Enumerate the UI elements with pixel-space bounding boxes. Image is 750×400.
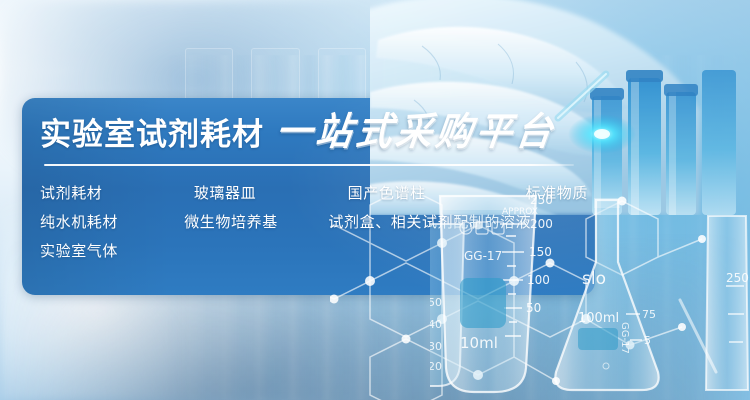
category-item-microbial-culture-medium[interactable]: 微生物培养基 [184, 211, 328, 232]
headline: 实验室试剂耗材 一站式采购平台 [40, 114, 556, 150]
category-item-reagent-kits-and-solutions[interactable]: 试剂盒、相关试剂配制的溶液 [328, 211, 588, 232]
category-row-2: 纯水机耗材 微生物培养基 试剂盒、相关试剂配制的溶液 [40, 207, 588, 236]
headline-underline [44, 164, 574, 166]
category-row-3: 实验室气体 [40, 236, 588, 265]
category-row-1: 试剂耗材 玻璃器皿 国产色谱柱 标准物质 [40, 178, 588, 207]
promo-banner: 50 40 30 20 200 150 100 50 [0, 0, 750, 400]
category-item-water-purifier-consumables[interactable]: 纯水机耗材 [40, 211, 184, 232]
category-item-reference-material[interactable]: 标准物质 [482, 182, 588, 203]
category-list: 试剂耗材 玻璃器皿 国产色谱柱 标准物质 纯水机耗材 微生物培养基 试剂盒、相关… [40, 178, 588, 265]
category-item-domestic-chromatography-column[interactable]: 国产色谱柱 [348, 182, 483, 203]
headline-main-text: 实验室试剂耗材 [40, 119, 264, 150]
category-item-reagent-consumables[interactable]: 试剂耗材 [40, 182, 194, 203]
headline-panel: 实验室试剂耗材 一站式采购平台 试剂耗材 玻璃器皿 国产色谱柱 标准物质 纯水机… [22, 98, 595, 295]
headline-brush-text: 一站式采购平台 [274, 113, 559, 151]
category-item-glassware[interactable]: 玻璃器皿 [194, 182, 348, 203]
category-item-laboratory-gases[interactable]: 实验室气体 [40, 240, 200, 261]
